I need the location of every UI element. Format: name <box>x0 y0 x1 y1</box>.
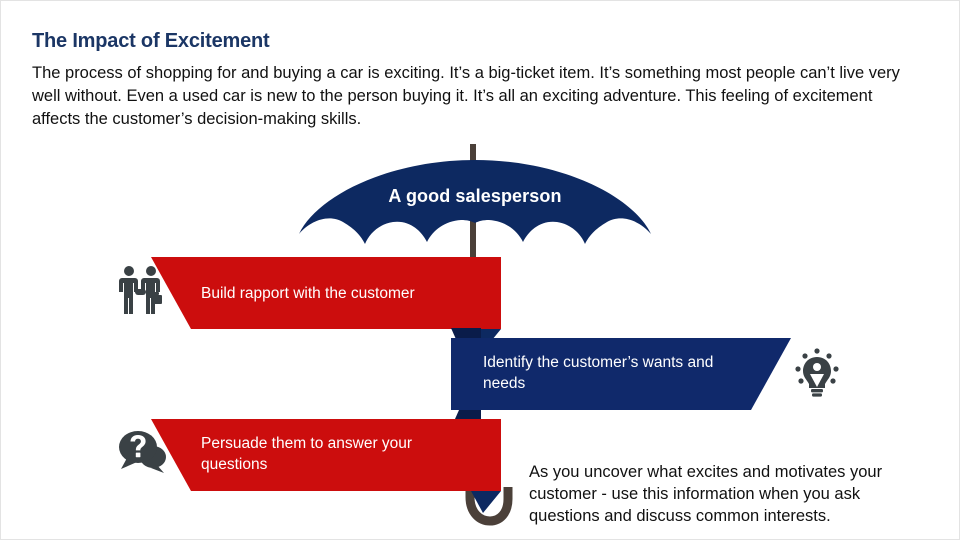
question-speech-bubble-icon <box>117 427 167 475</box>
ribbon-fold-3 <box>471 491 501 513</box>
ribbon-persuade[interactable]: Persuade them to answer your questions <box>151 419 501 491</box>
ribbon-label-1: Build rapport with the customer <box>201 283 481 304</box>
intro-paragraph: The process of shopping for and buying a… <box>32 62 910 131</box>
lightbulb-idea-icon <box>794 348 840 398</box>
umbrella-label: A good salesperson <box>299 186 651 207</box>
ribbon-label-3: Persuade them to answer your questions <box>201 433 481 475</box>
page-title: The Impact of Excitement <box>32 30 269 53</box>
footer-note: As you uncover what excites and motivate… <box>529 461 919 527</box>
handshake-icon <box>118 265 164 315</box>
slide-canvas: The Impact of Excitement The process of … <box>0 0 960 540</box>
ribbon-label-2: Identify the customer’s wants and needs <box>483 352 753 394</box>
ribbon-identify-wants[interactable]: Identify the customer’s wants and needs <box>451 338 791 410</box>
ribbon-build-rapport[interactable]: Build rapport with the customer <box>151 257 501 329</box>
